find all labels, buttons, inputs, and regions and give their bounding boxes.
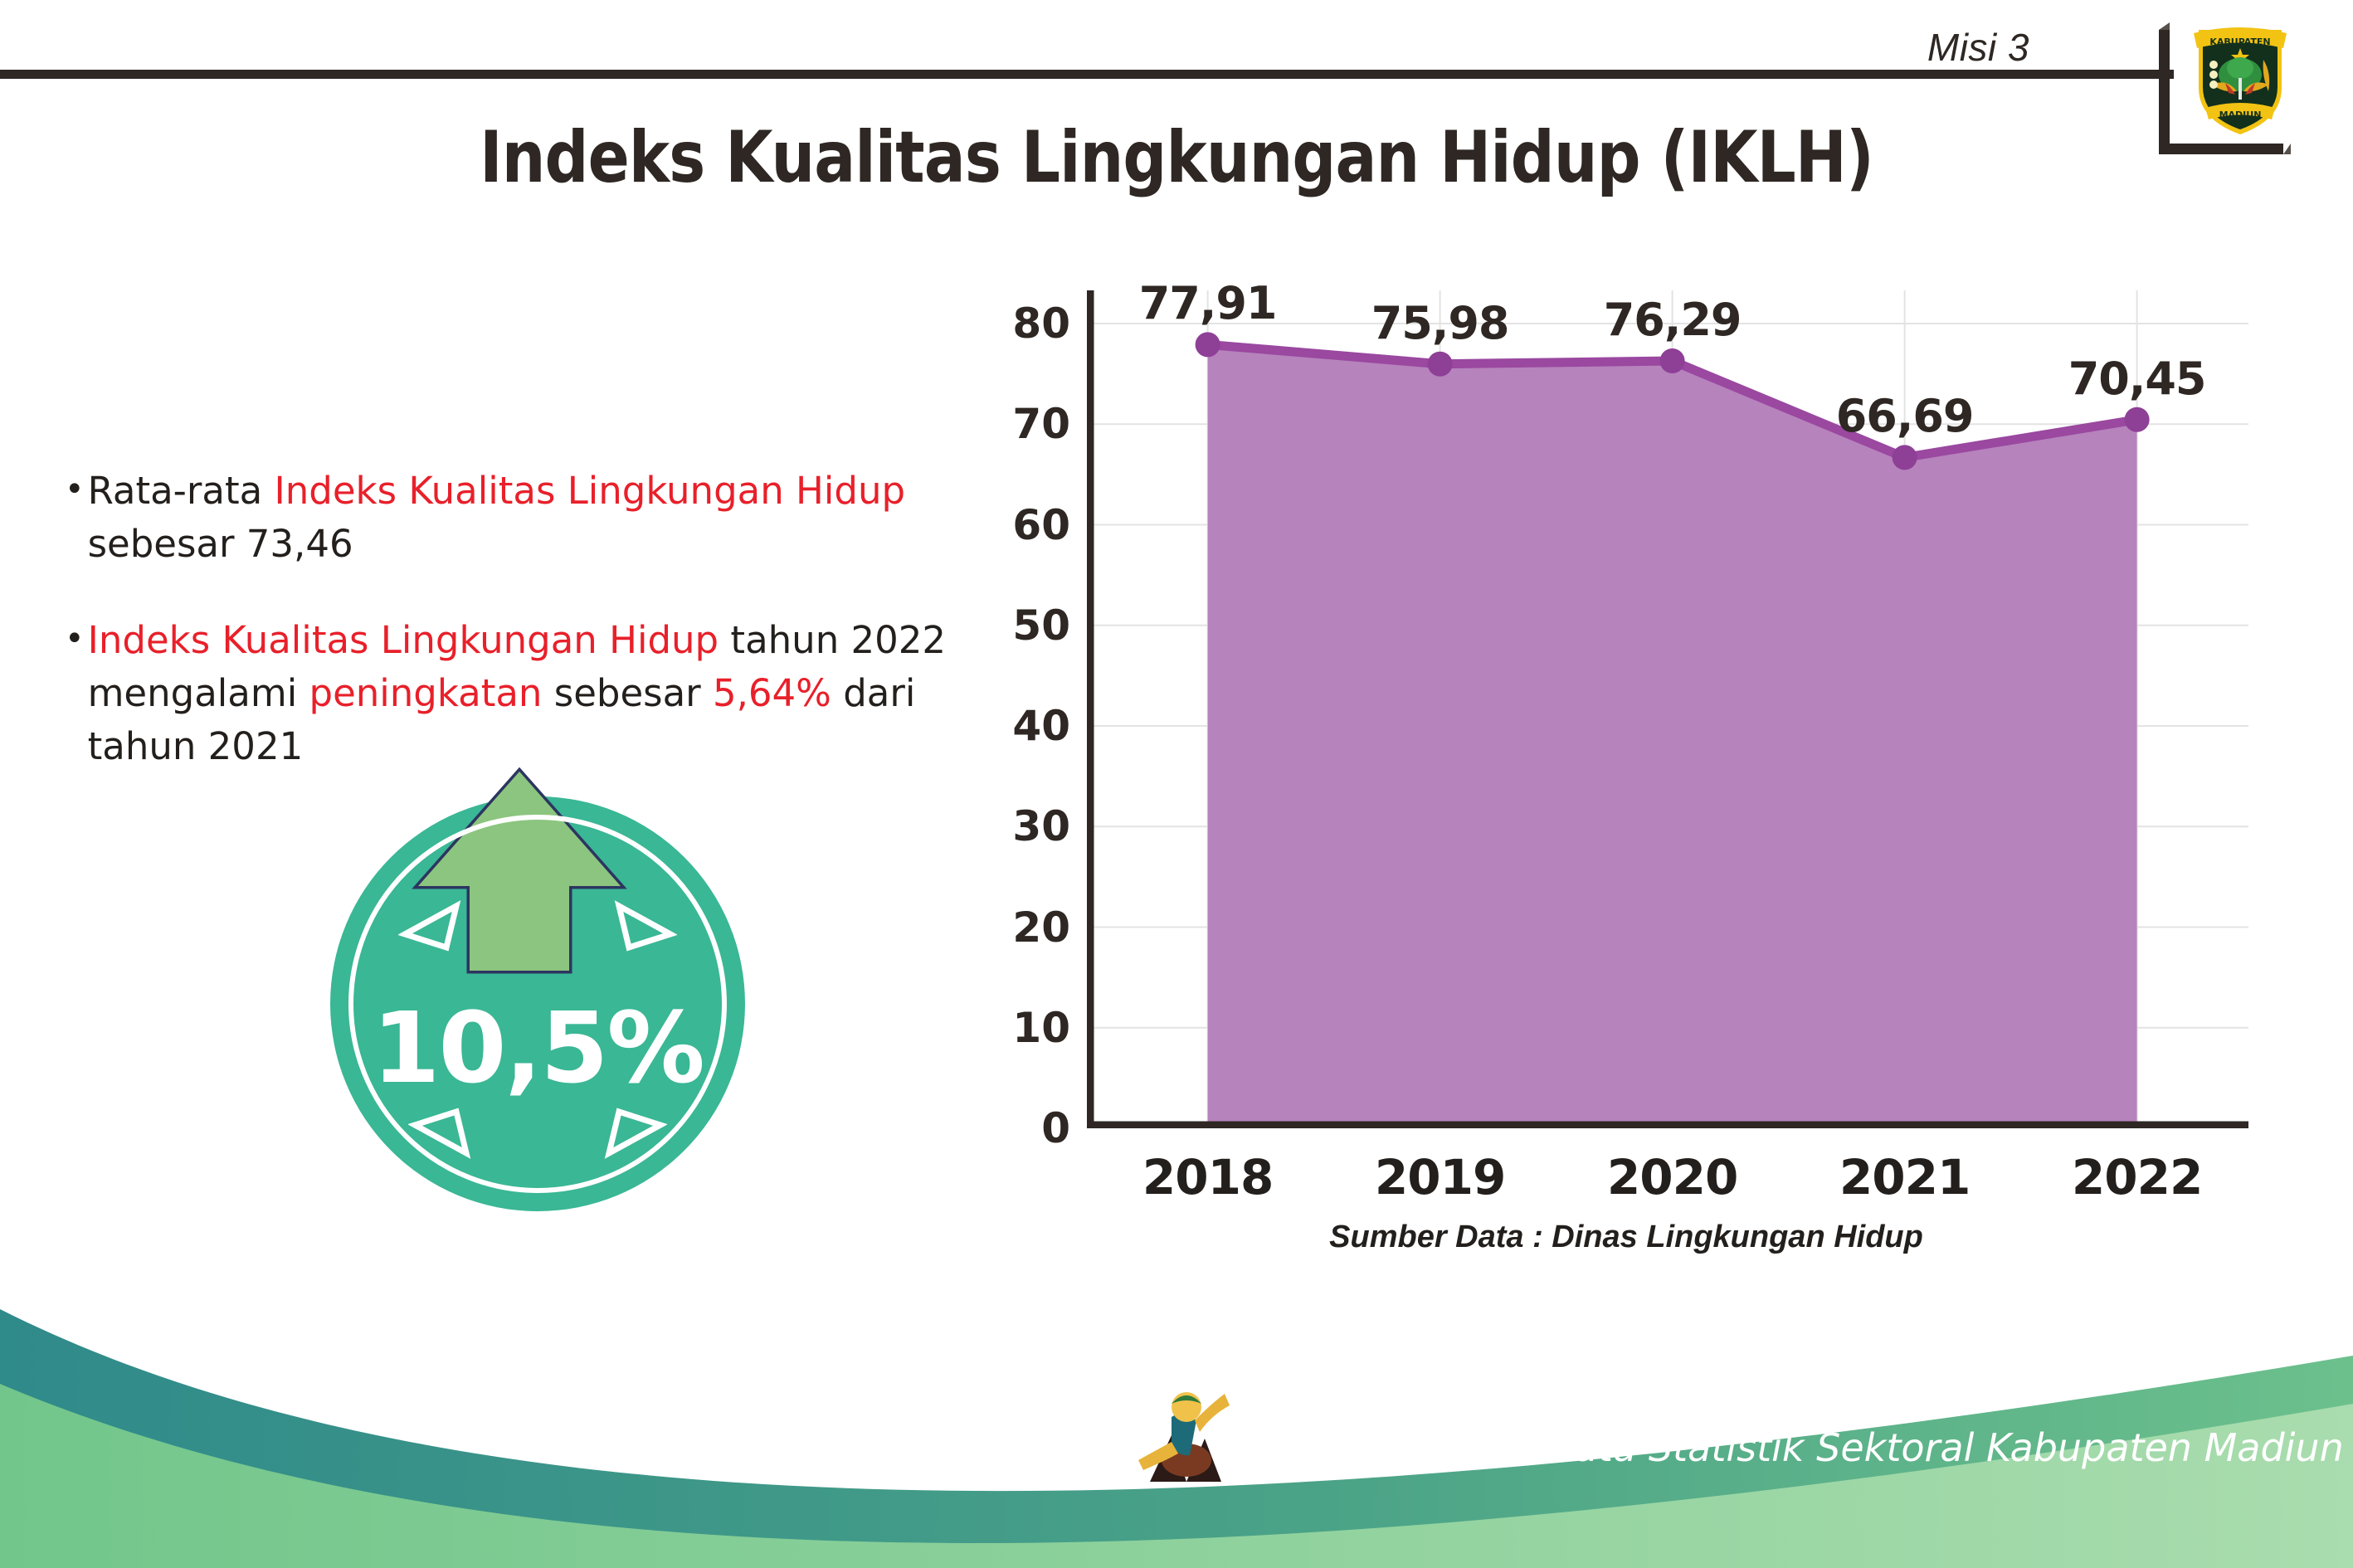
page-title: Indeks Kualitas Lingkungan Hidup (IKLH) <box>165 116 2189 199</box>
data-point-label: 66,69 <box>1836 390 1974 442</box>
y-axis-tick-label: 80 <box>1012 299 1070 348</box>
highlight-text: peningkatan <box>309 671 543 715</box>
y-axis-tick-label: 50 <box>1012 601 1070 650</box>
data-point-label: 77,91 <box>1139 277 1277 329</box>
y-axis-tick-label: 70 <box>1012 400 1070 448</box>
list-item: • Rata-rata Indeks Kualitas Lingkungan H… <box>65 465 994 571</box>
list-item: • Indeks Kualitas Lingkungan Hidup tahun… <box>65 614 994 773</box>
data-point-label: 75,98 <box>1371 297 1509 349</box>
data-label-layer: 77,9175,9876,2966,6970,45 <box>1087 290 2248 1128</box>
plain-text: Rata-rata <box>88 469 275 513</box>
y-axis-tick-label: 10 <box>1012 1004 1070 1052</box>
x-axis-tick-label: 2018 <box>1142 1149 1273 1205</box>
data-point-label: 70,45 <box>2068 353 2206 405</box>
dancer-logo-icon <box>1135 1384 1235 1492</box>
badge-ray-bottom-left-icon <box>408 1097 475 1163</box>
slide-canvas: Misi 3 KABUPATEN MADIUN Indeks Kualitas … <box>0 0 2353 1568</box>
x-axis-tick-label: 2021 <box>1839 1149 1970 1205</box>
source-note: Sumber Data : Dinas Lingkungan Hidup <box>979 1220 2273 1255</box>
plain-text: sebesar <box>542 671 713 715</box>
badge-value: 10,5% <box>330 991 745 1105</box>
highlight-text: Indeks Kualitas Lingkungan Hidup <box>275 469 906 513</box>
bullet-marker: • <box>65 465 85 514</box>
bullet-marker: • <box>65 614 85 664</box>
y-axis-labels: 01020304050607080 <box>979 290 1070 1128</box>
badge-ray-bottom-right-icon <box>601 1097 667 1163</box>
highlight-text: Indeks Kualitas Lingkungan Hidup <box>88 618 719 662</box>
x-axis-tick-label: 2020 <box>1607 1149 1737 1205</box>
highlight-text: 5,64% <box>713 671 831 715</box>
y-axis-tick-label: 40 <box>1012 702 1070 750</box>
bullet-text-2: Indeks Kualitas Lingkungan Hidup tahun 2… <box>88 614 994 773</box>
data-point-label: 76,29 <box>1604 294 1742 346</box>
svg-text:KABUPATEN: KABUPATEN <box>2209 37 2270 47</box>
bullet-text-1: Rata-rata Indeks Kualitas Lingkungan Hid… <box>88 465 994 571</box>
iklh-area-chart: 01020304050607080 20182019202020212022 7… <box>979 290 2273 1220</box>
y-axis-tick-label: 20 <box>1012 903 1070 952</box>
header-rule <box>0 70 2174 79</box>
y-axis-tick-label: 0 <box>1041 1104 1070 1152</box>
footer-caption: Media Infografis Data Statistik Sektoral… <box>1226 1425 2353 1470</box>
y-axis-tick-label: 30 <box>1012 802 1070 850</box>
badge-ray-top-left-icon <box>398 896 465 962</box>
x-axis-tick-label: 2022 <box>2072 1149 2202 1205</box>
bullet-list: • Rata-rata Indeks Kualitas Lingkungan H… <box>65 465 994 772</box>
svg-text:MADIUN: MADIUN <box>2219 110 2262 120</box>
y-axis-tick-label: 60 <box>1012 501 1070 549</box>
x-axis-tick-label: 2019 <box>1375 1149 1505 1205</box>
x-axis-labels: 20182019202020212022 <box>1087 1149 2248 1215</box>
kabupaten-madiun-emblem-icon: KABUPATEN MADIUN <box>2189 15 2292 138</box>
mission-label: Misi 3 <box>1927 25 2029 70</box>
badge-ray-top-right-icon <box>611 896 677 962</box>
increase-badge: 10,5% <box>330 763 745 1211</box>
plain-text: sebesar 73,46 <box>88 522 353 566</box>
